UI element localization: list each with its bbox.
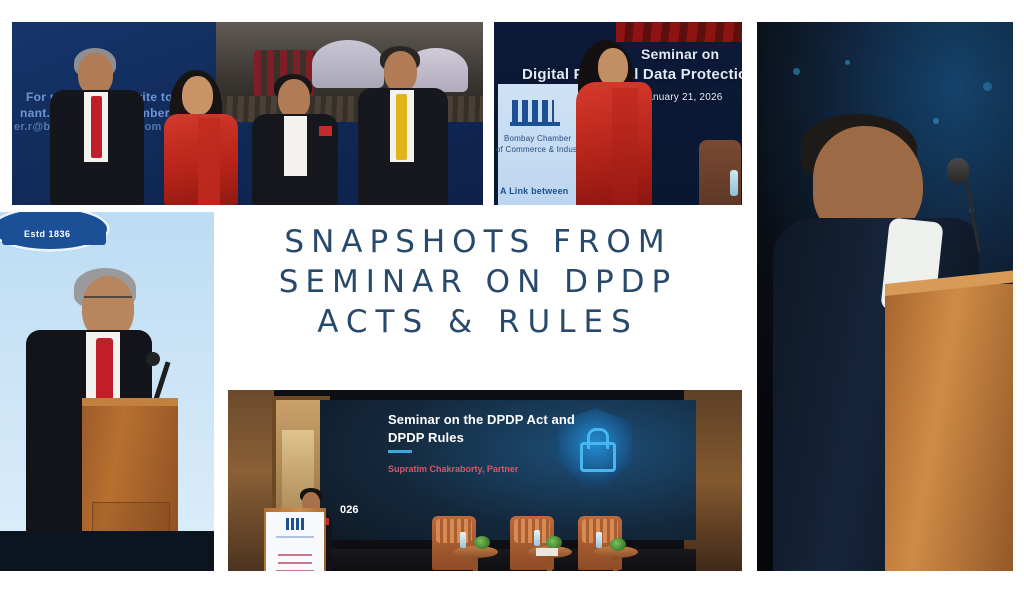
title-line-2: SEMINAR ON DPDP: [214, 262, 742, 302]
photo-senior-man-at-podium: Estd 1836: [0, 212, 214, 571]
standee-org-name: Bombay Chamber: [504, 134, 571, 143]
photo-group-of-four: For more details write to: nant.b@bombay…: [12, 22, 483, 205]
screen-seminar-date: January 21, 2026: [642, 92, 722, 103]
collage-title: SNAPSHOTS FROM SEMINAR ON DPDP ACTS & RU…: [214, 222, 742, 342]
photo-stage-wide: Seminar on the DPDP Act and DPDP Rules S…: [228, 390, 742, 571]
screen-speaker-name: Supratim Chakraborty, Partner: [388, 464, 518, 474]
photo-man-navy-suit-podium: [757, 22, 1013, 571]
stage-chair: [432, 516, 476, 570]
backdrop-estd-text: Estd 1836: [24, 229, 71, 239]
title-line-3: ACTS & RULES: [214, 302, 742, 342]
photo-woman-speaking: Seminar on Digital Personal Data Protect…: [494, 22, 742, 205]
screen-seminar-on: Seminar on: [641, 46, 719, 62]
screen-date-fragment: 026: [340, 504, 359, 516]
screen-title-line-1: Seminar on the DPDP Act and: [388, 412, 575, 427]
standee-org-sub: of Commerce & Industry: [496, 145, 587, 154]
standee-tagline: A Link between: [500, 186, 568, 196]
title-line-1: SNAPSHOTS FROM: [214, 222, 742, 262]
collage-canvas: For more details write to: nant.b@bombay…: [0, 0, 1024, 596]
wooden-podium-right: [885, 284, 1013, 571]
screen-title-line-2: DPDP Rules: [388, 430, 464, 445]
